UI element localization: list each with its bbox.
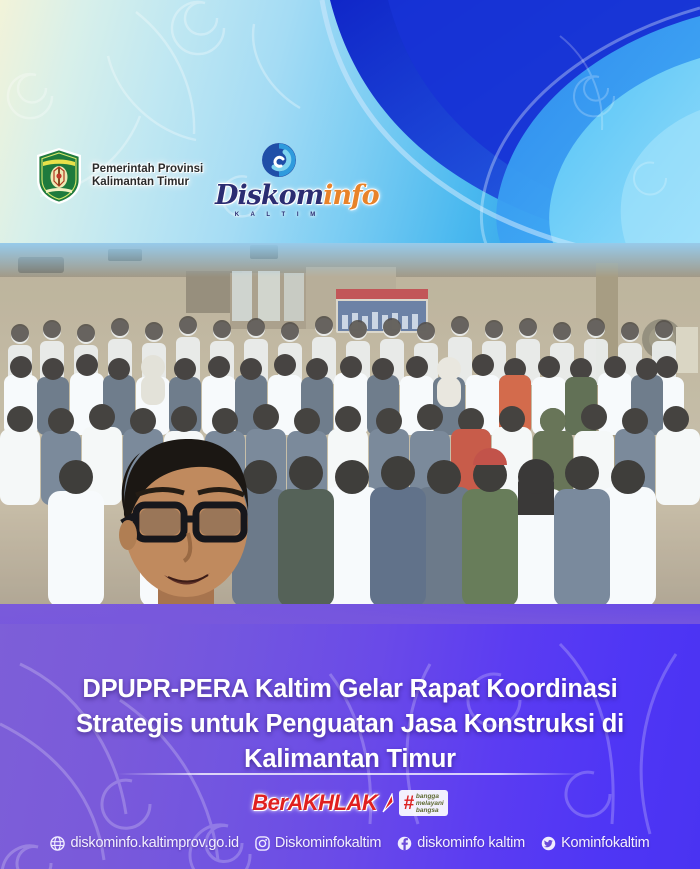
bangga-tag-line3: bangsa [416,807,444,814]
page-title-line1: DPUPR-PERA Kaltim Gelar Rapat Koordinasi [40,672,660,707]
social-link-instagram[interactable]: Diskominfokaltim [255,835,381,851]
event-photo [0,243,700,663]
social-links-row: diskominfo.kaltimprov.go.id Diskominfoka… [0,828,700,858]
event-photo-illustration [0,243,700,663]
diskominfo-wordmark: Diskominfo [215,180,340,211]
facebook-icon [397,836,412,851]
diskominfo-word-part1: Diskom [215,180,323,211]
page-title-line2: Strategis untuk Penguatan Jasa Konstruks… [40,707,660,742]
government-name-line1: Pemerintah Provinsi [92,163,203,177]
government-name-line2: Kalimantan Timur [92,176,203,190]
social-link-website[interactable]: diskominfo.kaltimprov.go.id [50,835,238,851]
instagram-icon [255,836,270,851]
twitter-icon [541,836,556,851]
berakhlak-logo: BerAKHLAK # bangga melayani bangsa [0,786,700,820]
header-logo-row: Pemerintah Provinsi Kalimantan Timur Dis… [0,140,700,220]
diskominfo-word-part2: info [323,180,379,211]
government-logo-text: Pemerintah Provinsi Kalimantan Timur [92,163,203,190]
social-link-facebook[interactable]: diskominfo kaltim [397,835,525,851]
photo-top-fade [0,243,700,277]
social-label-instagram: Diskominfokaltim [275,835,381,851]
page-title-line3: Kalimantan Timur [40,742,660,777]
page-title: DPUPR-PERA Kaltim Gelar Rapat Koordinasi… [40,672,660,777]
diskominfo-subtitle: K A L T I M [215,212,340,218]
berakhlak-swoosh-icon [382,793,394,813]
social-label-twitter: Kominfokaltim [561,835,649,851]
diskominfo-logo: Diskominfo K A L T I M [215,140,340,225]
social-label-website: diskominfo.kaltimprov.go.id [70,835,238,851]
bangga-tag-line2: melayani [416,800,444,807]
government-logo: Pemerintah Provinsi Kalimantan Timur [34,147,203,205]
bangga-tag-lines: bangga melayani bangsa [416,793,444,814]
social-media-poster: Pemerintah Provinsi Kalimantan Timur Dis… [0,0,700,869]
title-divider [118,773,582,775]
social-label-facebook: diskominfo kaltim [417,835,525,851]
social-link-twitter[interactable]: Kominfokaltim [541,835,649,851]
globe-icon [50,836,65,851]
bangga-tag-line1: bangga [416,793,444,800]
bangga-melayani-bangsa-tag: # bangga melayani bangsa [399,790,447,816]
kaltim-provincial-emblem-icon [34,147,84,205]
berakhlak-wordmark: BerAKHLAK [252,790,377,816]
header-wave-graphic [0,0,700,262]
hash-icon: # [403,794,414,813]
poster-header: Pemerintah Provinsi Kalimantan Timur Dis… [0,0,700,262]
